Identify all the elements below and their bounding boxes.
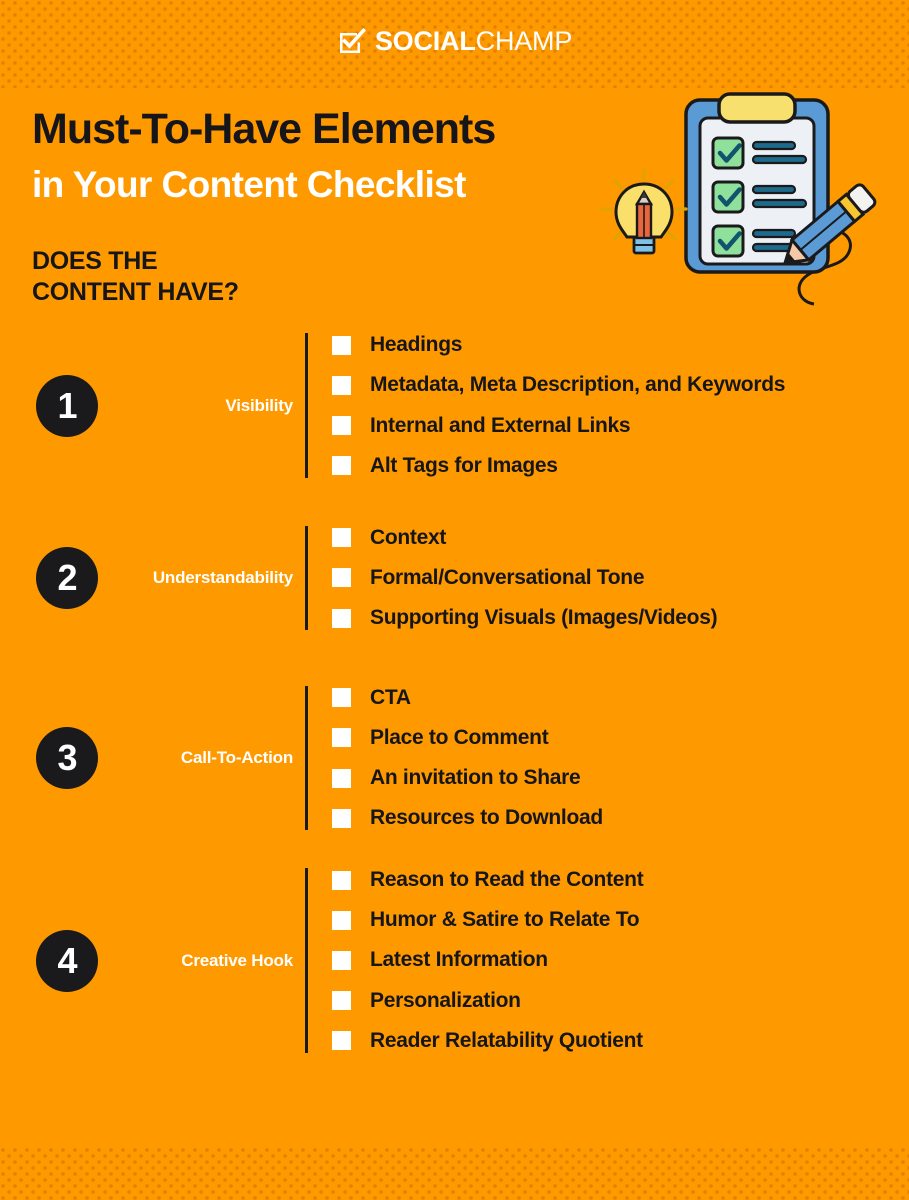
section-4-number-badge: 4 bbox=[36, 930, 98, 992]
checkbox-check-icon bbox=[337, 27, 366, 56]
checkbox-icon[interactable] bbox=[332, 416, 351, 435]
list-item[interactable]: Supporting Visuals (Images/Videos) bbox=[332, 606, 909, 630]
checkbox-icon[interactable] bbox=[332, 1031, 351, 1050]
list-item[interactable]: CTA bbox=[332, 686, 909, 710]
checklist-sections: 1 Visibility Headings Metadata, Meta Des… bbox=[0, 318, 909, 1068]
section-4-left: 4 Creative Hook bbox=[0, 930, 305, 992]
checkbox-icon[interactable] bbox=[332, 809, 351, 828]
list-item[interactable]: Formal/Conversational Tone bbox=[332, 566, 909, 590]
section-2-items: Context Formal/Conversational Tone Suppo… bbox=[305, 526, 909, 630]
section-1-items: Headings Metadata, Meta Description, and… bbox=[305, 333, 909, 478]
bottom-dotted-band bbox=[0, 1147, 909, 1200]
checkbox-icon[interactable] bbox=[332, 911, 351, 930]
checkbox-icon[interactable] bbox=[332, 456, 351, 475]
headline-line-1: Must-To-Have Elements bbox=[32, 108, 495, 151]
list-item[interactable]: Resources to Download bbox=[332, 806, 909, 830]
brand-logo[interactable]: SOCIALCHAMP bbox=[0, 27, 909, 56]
section-1-left: 1 Visibility bbox=[0, 375, 305, 437]
section-visibility: 1 Visibility Headings Metadata, Meta Des… bbox=[0, 318, 909, 493]
lightbulb-icon bbox=[602, 170, 686, 253]
list-item[interactable]: An invitation to Share bbox=[332, 766, 909, 790]
section-1-number: 1 bbox=[57, 388, 76, 424]
section-3-left: 3 Call-To-Action bbox=[0, 727, 305, 789]
list-item[interactable]: Alt Tags for Images bbox=[332, 454, 909, 478]
subheading-line-1: DOES THE bbox=[32, 246, 239, 277]
list-item[interactable]: Reader Relatability Quotient bbox=[332, 1029, 909, 1053]
section-call-to-action: 3 Call-To-Action CTA Place to Comment An… bbox=[0, 663, 909, 853]
section-understandability: 2 Understandability Context Formal/Conve… bbox=[0, 493, 909, 663]
brand-name-light: CHAMP bbox=[476, 26, 573, 56]
checkbox-icon[interactable] bbox=[332, 376, 351, 395]
checkbox-icon[interactable] bbox=[332, 609, 351, 628]
list-item[interactable]: Context bbox=[332, 526, 909, 550]
section-2-left: 2 Understandability bbox=[0, 547, 305, 609]
section-1-number-badge: 1 bbox=[36, 375, 98, 437]
list-item[interactable]: Metadata, Meta Description, and Keywords bbox=[332, 373, 909, 397]
subheading-line-2: CONTENT HAVE? bbox=[32, 277, 239, 308]
checkbox-icon[interactable] bbox=[332, 991, 351, 1010]
checkbox-icon[interactable] bbox=[332, 871, 351, 890]
section-3-number: 3 bbox=[57, 740, 76, 776]
checkbox-icon[interactable] bbox=[332, 528, 351, 547]
clipboard-checklist-lightbulb-pencil-illustration bbox=[596, 92, 896, 322]
checkbox-icon[interactable] bbox=[332, 728, 351, 747]
subheading: DOES THE CONTENT HAVE? bbox=[32, 246, 239, 309]
infographic-page: SOCIALCHAMP Must-To-Have Elements in You… bbox=[0, 0, 909, 1200]
list-item[interactable]: Internal and External Links bbox=[332, 414, 909, 438]
checkbox-icon[interactable] bbox=[332, 568, 351, 587]
section-2-label: Understandability bbox=[98, 568, 293, 588]
section-creative-hook: 4 Creative Hook Reason to Read the Conte… bbox=[0, 853, 909, 1068]
headline-line-2: in Your Content Checklist bbox=[32, 166, 495, 203]
brand-name-bold: SOCIAL bbox=[375, 26, 476, 56]
checkbox-icon[interactable] bbox=[332, 769, 351, 788]
list-item[interactable]: Reason to Read the Content bbox=[332, 868, 909, 892]
list-item[interactable]: Place to Comment bbox=[332, 726, 909, 750]
section-4-label: Creative Hook bbox=[98, 951, 293, 971]
checkbox-icon[interactable] bbox=[332, 336, 351, 355]
section-3-number-badge: 3 bbox=[36, 727, 98, 789]
list-item[interactable]: Latest Information bbox=[332, 948, 909, 972]
checkbox-icon[interactable] bbox=[332, 688, 351, 707]
section-3-label: Call-To-Action bbox=[98, 748, 293, 768]
checkbox-icon[interactable] bbox=[332, 951, 351, 970]
section-4-items: Reason to Read the Content Humor & Satir… bbox=[305, 868, 909, 1053]
section-2-number: 2 bbox=[57, 560, 76, 596]
section-3-items: CTA Place to Comment An invitation to Sh… bbox=[305, 686, 909, 831]
section-2-number-badge: 2 bbox=[36, 547, 98, 609]
section-4-number: 4 bbox=[57, 943, 76, 979]
list-item[interactable]: Personalization bbox=[332, 989, 909, 1013]
page-title: Must-To-Have Elements in Your Content Ch… bbox=[32, 108, 495, 203]
section-1-label: Visibility bbox=[98, 396, 293, 416]
list-item[interactable]: Headings bbox=[332, 333, 909, 357]
list-item[interactable]: Humor & Satire to Relate To bbox=[332, 908, 909, 932]
